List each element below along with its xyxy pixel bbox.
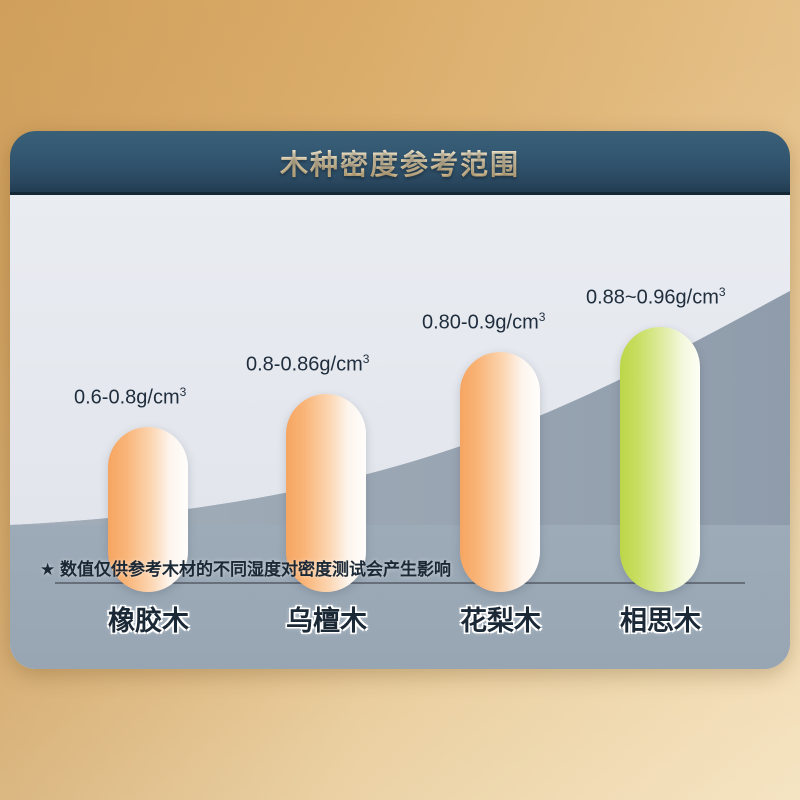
value-label-xiangjiaomu: 0.6-0.8g/cm3: [74, 385, 186, 410]
value-label-wutanmu: 0.8-0.86g/cm3: [246, 352, 369, 377]
chart-footnote: ★ 数值仅供参考木材的不同湿度对密度测试会产生影响: [40, 555, 451, 580]
bar-hualimu: [460, 352, 540, 592]
value-label-xiangsimu: 0.88~0.96g/cm3: [586, 285, 726, 310]
card-header: 木种密度参考范围: [10, 131, 790, 195]
page-title: 木种密度参考范围: [280, 143, 520, 183]
category-label-wutanmu: 乌檀木: [286, 599, 366, 638]
category-label-xiangjiaomu: 橡胶木: [108, 599, 188, 638]
chart-panel: 0.6-0.8g/cm3 橡胶木 0.8-0.86g/cm3 乌檀木 0.80-…: [10, 195, 790, 669]
category-label-hualimu: 花梨木: [460, 599, 540, 638]
value-label-hualimu: 0.80-0.9g/cm3: [422, 310, 545, 335]
density-chart-card: 木种密度参考范围: [10, 131, 790, 669]
bars-plot-area: 0.6-0.8g/cm3 橡胶木 0.8-0.86g/cm3 乌檀木 0.80-…: [10, 195, 790, 669]
category-label-xiangsimu: 相思木: [620, 599, 700, 638]
bar-xiangsimu: [620, 327, 700, 592]
